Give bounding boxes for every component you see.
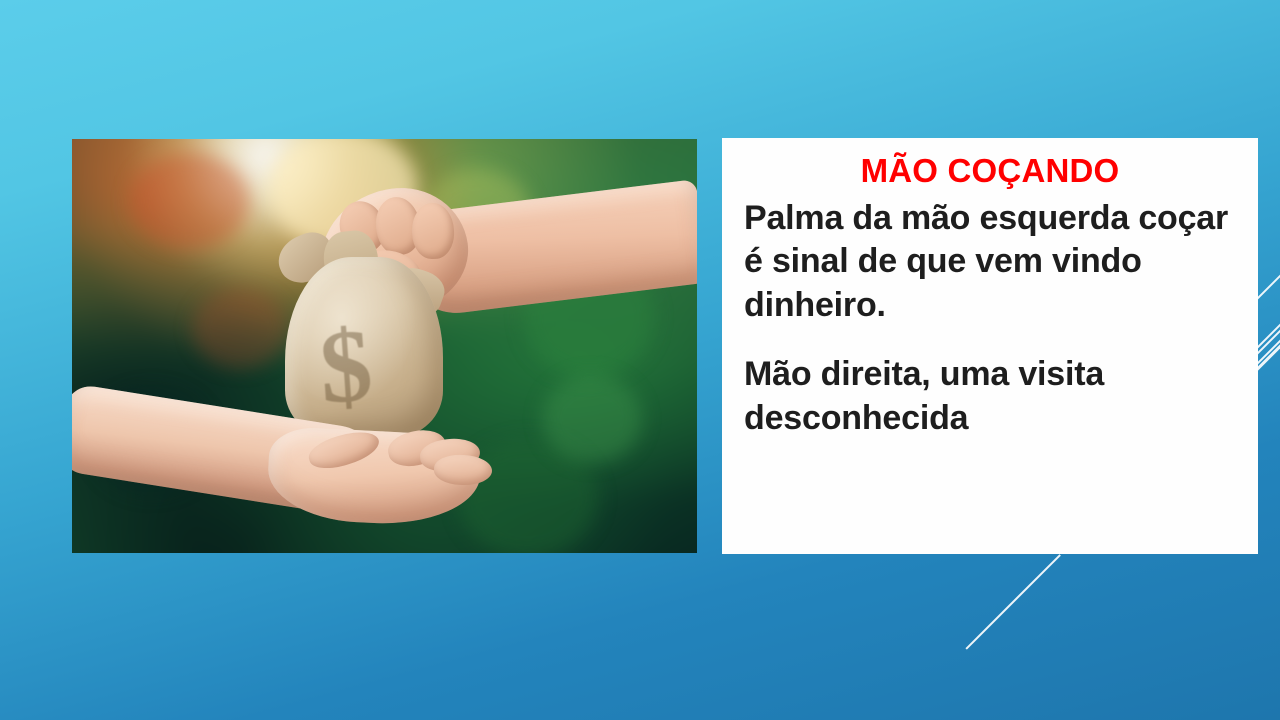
bokeh-light-1 (130, 153, 250, 249)
bokeh-light-5 (192, 289, 288, 369)
dollar-sign-icon: $ (316, 313, 375, 420)
panel-paragraph-2: Mão direita, uma visita desconhecida (744, 353, 1236, 440)
panel-title: MÃO COÇANDO (744, 152, 1236, 191)
slide-canvas: $ MÃO COÇANDO Palma da mão esquerda coça… (0, 0, 1280, 720)
caption-panel: MÃO COÇANDO Palma da mão esquerda coçar … (722, 138, 1258, 554)
money-handoff-photo: $ (72, 139, 697, 553)
panel-paragraph-1: Palma da mão esquerda coçar é sinal de q… (744, 197, 1236, 328)
bokeh-light-7 (542, 375, 642, 463)
diagonal-accent-line-bottom (965, 554, 1060, 649)
